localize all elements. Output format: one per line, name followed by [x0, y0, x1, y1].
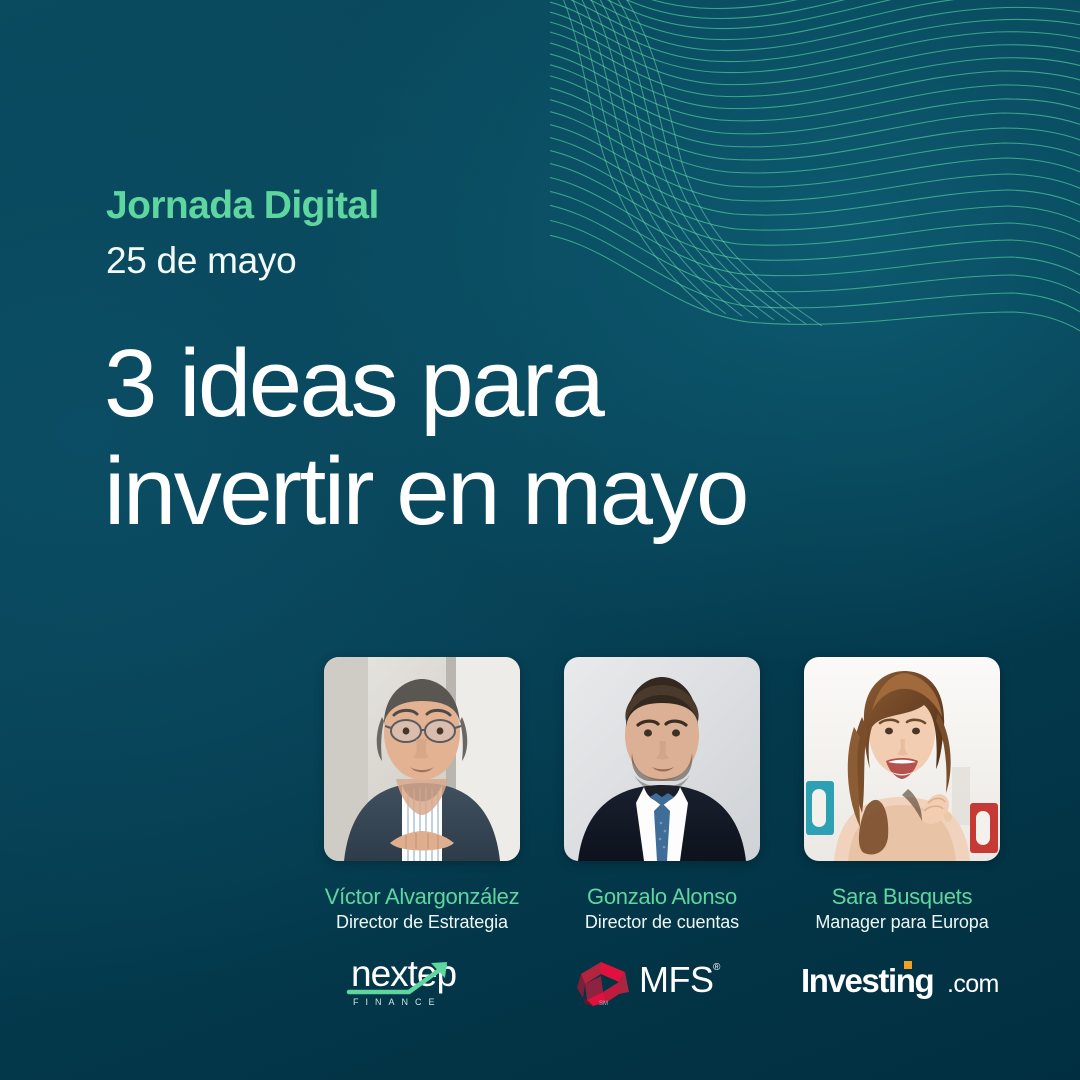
event-kicker-block: Jornada Digital 25 de mayo [106, 186, 379, 282]
speaker-name: Víctor Alvargonzález [325, 884, 520, 910]
speaker-name: Gonzalo Alonso [587, 884, 737, 910]
company-logo-nextep: nextep FINANCE [337, 951, 507, 1009]
speaker-list: Víctor Alvargonzález Director de Estrate… [322, 657, 1002, 1009]
svg-text:®: ® [713, 962, 721, 973]
event-kicker: Jornada Digital [106, 186, 379, 227]
speaker-photo-victor-alvargonzalez [324, 657, 520, 861]
speaker-photo-sara-busquets [804, 657, 1000, 861]
svg-text:nextep: nextep [351, 953, 457, 994]
headline-line-2: invertir en mayo [104, 438, 747, 546]
event-date: 25 de mayo [106, 241, 379, 282]
headline-line-1: 3 ideas para [104, 330, 747, 438]
svg-text:SM: SM [599, 1001, 608, 1007]
svg-text:FINANCE: FINANCE [353, 997, 442, 1007]
svg-text:.com: .com [947, 970, 999, 998]
company-logo-mfs: MFS ® SM [573, 951, 751, 1009]
speaker-role: Manager para Europa [815, 912, 988, 933]
speaker-role: Director de Estrategia [336, 912, 508, 933]
page-title: 3 ideas para invertir en mayo [104, 330, 747, 545]
speaker-role: Director de cuentas [585, 912, 739, 933]
speaker-photo-gonzalo-alonso [564, 657, 760, 861]
wave-line-art-decoration [550, 0, 1080, 380]
speaker-card: Víctor Alvargonzález Director de Estrate… [322, 657, 522, 1009]
speaker-card: Gonzalo Alonso Director de cuentas MFS [562, 657, 762, 1009]
company-logo-investing-com: Investing .com [799, 951, 1005, 1009]
promotional-poster: Jornada Digital 25 de mayo 3 ideas para … [0, 0, 1080, 1080]
svg-text:MFS: MFS [639, 959, 714, 1000]
speaker-card: Sara Busquets Manager para Europa Invest… [802, 657, 1002, 1009]
svg-text:Investing: Investing [801, 962, 933, 999]
speaker-name: Sara Busquets [832, 884, 972, 910]
